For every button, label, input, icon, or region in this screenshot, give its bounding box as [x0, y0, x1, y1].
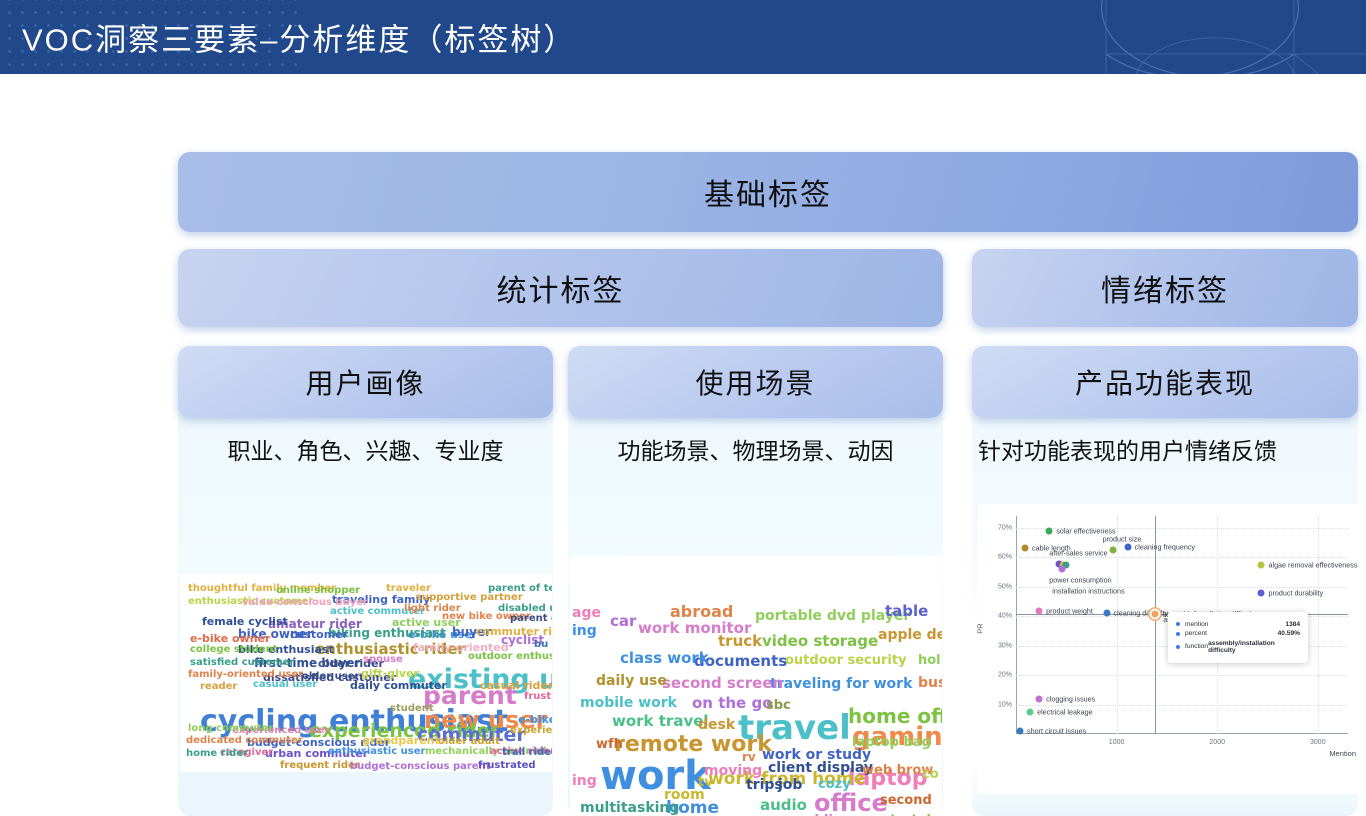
wordcloud-word: second — [880, 794, 932, 807]
wordcloud-word: video storage — [762, 634, 878, 649]
tooltip-value: assembly/installation difficulty — [1208, 640, 1300, 654]
y-gridline — [1016, 705, 1348, 706]
tag-node-product-function[interactable]: 产品功能表现 — [972, 346, 1358, 418]
scatter-point[interactable] — [1036, 607, 1043, 614]
x-gridline — [1117, 516, 1118, 734]
y-axis-tick-label: 70% — [998, 524, 1012, 531]
wordcloud-word: student — [390, 704, 434, 714]
y-axis-tick-label: 40% — [998, 613, 1012, 620]
header-geometric-decoration — [1076, 0, 1366, 74]
wordcloud-word: experienced — [510, 726, 552, 736]
tooltip-row: functionassembly/installation difficulty — [1176, 640, 1300, 654]
slide-header: VOC洞察三要素–分析维度（标签树） — [0, 0, 1366, 74]
scatter-point[interactable] — [1022, 545, 1029, 552]
chart-tooltip: mention1384percent40.59%functionassembly… — [1168, 612, 1308, 663]
wordcloud-word: bu — [534, 640, 548, 650]
y-axis-line — [1016, 516, 1017, 734]
wordcloud-word: desk — [698, 718, 735, 732]
wordcloud-word: daily use — [596, 674, 667, 688]
wordcloud-word: reader — [200, 682, 237, 692]
wordcloud-word: satisfied customer — [190, 658, 294, 668]
scatter-chart-product-function[interactable]: 10%20%30%40%50%60%70%100020003000solar e… — [978, 504, 1366, 794]
scatter-point-label: power consumption — [1049, 576, 1111, 585]
wordcloud-word: table — [885, 604, 928, 619]
wordcloud-word: supportive partner — [416, 593, 523, 603]
y-gridline — [1016, 675, 1348, 676]
tooltip-key: function — [1185, 643, 1208, 650]
wordcloud-word: second screen — [662, 676, 783, 691]
tooltip-bullet-icon — [1176, 622, 1180, 626]
wordcloud-word: multitasking — [580, 801, 679, 815]
scatter-point-label: product durability — [1268, 589, 1323, 598]
wordcloud-word: mobile work — [580, 696, 677, 710]
wordcloud-usage-scene[interactable]: travelworkgamingremote workofficelaptoph… — [570, 556, 942, 816]
wordcloud-word: parent of teen — [488, 584, 552, 594]
scatter-point-label: clogging issues — [1046, 694, 1095, 703]
tooltip-value: 40.59% — [1278, 630, 1300, 637]
scatter-point-label: cleaning frequency — [1135, 542, 1195, 551]
wordcloud-word: busi — [918, 676, 942, 690]
tooltip-row: percent40.59% — [1176, 630, 1300, 637]
scatter-point[interactable] — [1152, 611, 1159, 618]
tag-node-usage-scene[interactable]: 使用场景 — [568, 346, 943, 418]
y-axis-tick-label: 50% — [998, 583, 1012, 590]
scatter-point[interactable] — [1058, 566, 1065, 573]
wordcloud-word: frustra — [524, 692, 552, 702]
x-axis-tick-label: 2000 — [1209, 739, 1225, 746]
y-axis-title: PR — [976, 623, 985, 633]
wordcloud-word: frequent rider — [280, 761, 360, 771]
scatter-point-label: electrical leakage — [1037, 707, 1093, 716]
x-gridline — [1318, 516, 1319, 734]
wordcloud-word: family-oriented user — [188, 670, 303, 680]
wordcloud-word: cozy — [818, 778, 851, 791]
tooltip-row: mention1384 — [1176, 621, 1300, 628]
wordcloud-word: enthusiastic user — [328, 747, 425, 757]
subtitle-usage-scene: 功能场景、物理场景、动因 — [568, 432, 943, 466]
scatter-point[interactable] — [1046, 527, 1053, 534]
scatter-point[interactable] — [1109, 546, 1116, 553]
x-axis-title: Mention — [1329, 749, 1356, 758]
scatter-point-label: cleaning difficulty — [1114, 609, 1169, 618]
tooltip-bullet-icon — [1176, 632, 1180, 636]
wordcloud-word: class work — [620, 651, 709, 666]
wordcloud-word: on the go — [692, 696, 773, 711]
scatter-point[interactable] — [1027, 708, 1034, 715]
wordcloud-word: client display — [768, 761, 873, 775]
wordcloud-word: sbc — [766, 699, 791, 712]
wordcloud-word: work travel — [612, 714, 709, 729]
wordcloud-word: e-bike — [518, 714, 552, 725]
tag-node-statistics[interactable]: 统计标签 — [178, 249, 943, 327]
wordcloud-word: truck — [718, 634, 762, 649]
wordcloud-word: hol — [918, 654, 941, 667]
scatter-point-label: short circuit issues — [1027, 727, 1086, 736]
wordcloud-word: customer — [290, 629, 348, 640]
wordcloud-word: spouse — [363, 655, 403, 665]
subtitle-product-function: 针对功能表现的用户情绪反馈 — [978, 432, 1364, 466]
tag-node-emotion[interactable]: 情绪标签 — [972, 249, 1358, 327]
wordcloud-word: active user — [392, 617, 461, 628]
wordcloud-word: dedicated commuter — [186, 736, 303, 746]
wordcloud-word: long commuter — [188, 724, 273, 734]
scatter-point-label: algae removal effectiveness — [1268, 561, 1357, 570]
wordcloud-word: frustrated — [478, 761, 536, 771]
x-axis-tick-label: 1000 — [1109, 739, 1125, 746]
slide-body: 基础标签 统计标签 情绪标签 用户画像 使用场景 产品功能表现 职业、角色、兴趣… — [0, 74, 1366, 816]
wordcloud-word: rv — [742, 751, 756, 763]
x-axis-tick-label: 3000 — [1310, 739, 1326, 746]
wordcloud-word: audio — [760, 798, 807, 813]
y-axis-tick-label: 20% — [998, 672, 1012, 679]
y-gridline — [1016, 557, 1348, 558]
scatter-point[interactable] — [1258, 562, 1265, 569]
scatter-point[interactable] — [1258, 590, 1265, 597]
y-axis-tick-label: 60% — [998, 554, 1012, 561]
wordcloud-word: trail rider — [502, 748, 552, 758]
scatter-point-label: after-sales service — [1049, 548, 1107, 557]
scatter-point[interactable] — [1036, 695, 1043, 702]
wordcloud-word: casual rider — [480, 680, 552, 691]
wordcloud-word: ing — [572, 624, 597, 638]
wordcloud-word: traveling for work — [770, 677, 912, 691]
wordcloud-word: apple de — [878, 628, 942, 642]
wordcloud-word: female cyclist — [202, 616, 288, 627]
tooltip-value: 1384 — [1285, 621, 1300, 628]
slide-title: VOC洞察三要素–分析维度（标签树） — [22, 15, 576, 60]
wordcloud-word: e-bike owner — [190, 633, 270, 644]
slide-page: VOC洞察三要素–分析维度（标签树） 基础标签 统计标签 情绪标签 用户画像 使… — [0, 0, 1366, 816]
wordcloud-word: co — [922, 768, 939, 781]
wordcloud-word: casual user — [253, 680, 317, 690]
wordcloud-word: home rider — [186, 749, 248, 759]
wordcloud-user-persona[interactable]: cycling enthusiastexisting usernew userp… — [180, 574, 552, 772]
tooltip-key: mention — [1185, 621, 1208, 628]
wordcloud-word: outdoor security — [785, 654, 907, 667]
wordcloud-word: grandparent — [362, 735, 440, 746]
wordcloud-word: job — [778, 778, 802, 792]
scatter-point[interactable] — [1103, 610, 1110, 617]
wordcloud-word: parent of — [510, 614, 552, 624]
scatter-point[interactable] — [1124, 543, 1131, 550]
y-axis-tick-label: 10% — [998, 701, 1012, 708]
wordcloud-word: ing — [572, 774, 597, 788]
scatter-point-label: product weight — [1046, 606, 1093, 615]
wordcloud-word: abroad — [670, 604, 733, 620]
wordcloud-word: age — [572, 606, 601, 620]
scatter-point[interactable] — [1017, 728, 1024, 735]
wordcloud-word: college student — [190, 645, 278, 655]
scatter-point-label: installation instructions — [1052, 586, 1124, 595]
tag-node-user-persona[interactable]: 用户画像 — [178, 346, 553, 418]
wordcloud-word: commuter rider — [476, 626, 552, 637]
wordcloud-word: car — [610, 614, 636, 629]
wordcloud-word: outdoor enthusiast — [468, 652, 552, 662]
tooltip-key: percent — [1185, 630, 1207, 637]
y-axis-tick-label: 30% — [998, 642, 1012, 649]
tooltip-bullet-icon — [1176, 645, 1180, 649]
scatter-point-label: product size — [1103, 534, 1142, 543]
wordcloud-word: daily commuter — [350, 680, 447, 691]
wordcloud-word: budget-conscious parent — [350, 762, 490, 772]
wordcloud-word: office — [814, 791, 888, 815]
wordcloud-word: wfh — [596, 738, 623, 751]
tag-node-base[interactable]: 基础标签 — [178, 152, 1358, 232]
subtitle-user-persona: 职业、角色、兴趣、专业度 — [178, 432, 553, 466]
wordcloud-word: gift-giver — [361, 668, 419, 679]
wordcloud-word: home office — [848, 706, 942, 726]
